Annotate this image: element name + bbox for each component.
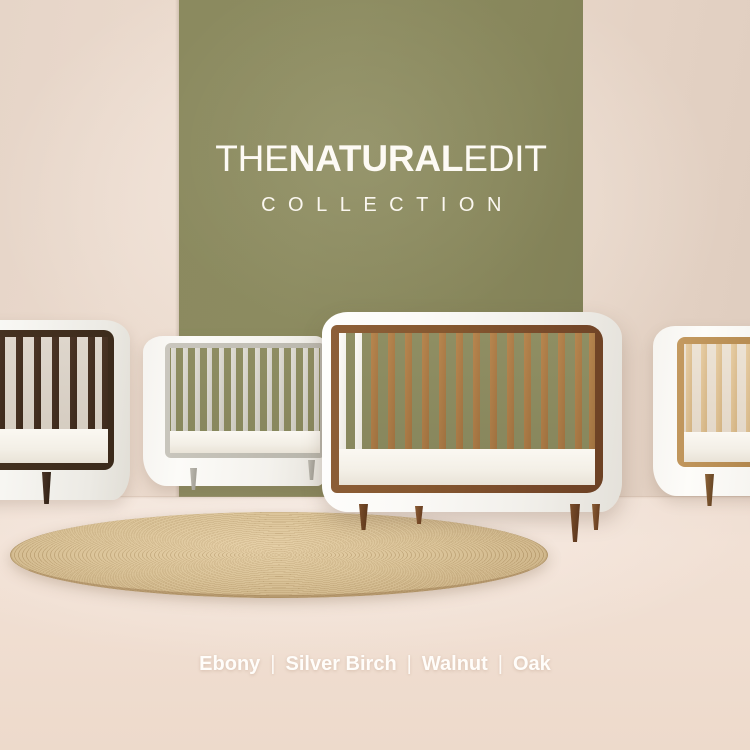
crib-brand-emboss (251, 462, 253, 468)
crib-walnut-opening (339, 333, 595, 485)
caption-separator: | (262, 653, 283, 675)
finish-label-silver-birch[interactable]: Silver Birch (284, 653, 399, 675)
crib-silver-birch[interactable] (143, 336, 325, 486)
crib-mattress (170, 431, 320, 453)
hero-word-the: THE (215, 138, 288, 179)
product-banner-scene: THENATURALEDIT COLLECTION (0, 0, 750, 750)
crib-walnut[interactable] (322, 312, 622, 512)
crib-ebony-opening (0, 337, 108, 463)
caption-separator: | (399, 653, 420, 675)
finish-label-ebony[interactable]: Ebony (197, 653, 262, 675)
finish-label-walnut[interactable]: Walnut (420, 653, 490, 675)
crib-brand-emboss (442, 494, 444, 500)
hero-title-block: THENATURALEDIT COLLECTION (179, 140, 583, 217)
crib-oak-opening (684, 344, 750, 462)
caption-separator: | (490, 653, 511, 675)
crib-mattress (0, 429, 108, 463)
finish-label-oak[interactable]: Oak (511, 653, 553, 675)
crib-mattress (684, 432, 750, 462)
finish-caption: Ebony|Silver Birch|Walnut|Oak (0, 653, 750, 676)
hero-word-natural: NATURAL (289, 138, 464, 179)
crib-mattress (339, 449, 595, 485)
hero-word-edit: EDIT (463, 138, 546, 179)
crib-silver-birch-opening (170, 348, 320, 453)
crib-oak[interactable] (653, 326, 750, 496)
hero-headline: THENATURALEDIT (179, 140, 583, 177)
hero-subline: COLLECTION (179, 194, 583, 217)
crib-ebony[interactable] (0, 320, 130, 500)
jute-rug (10, 512, 548, 598)
